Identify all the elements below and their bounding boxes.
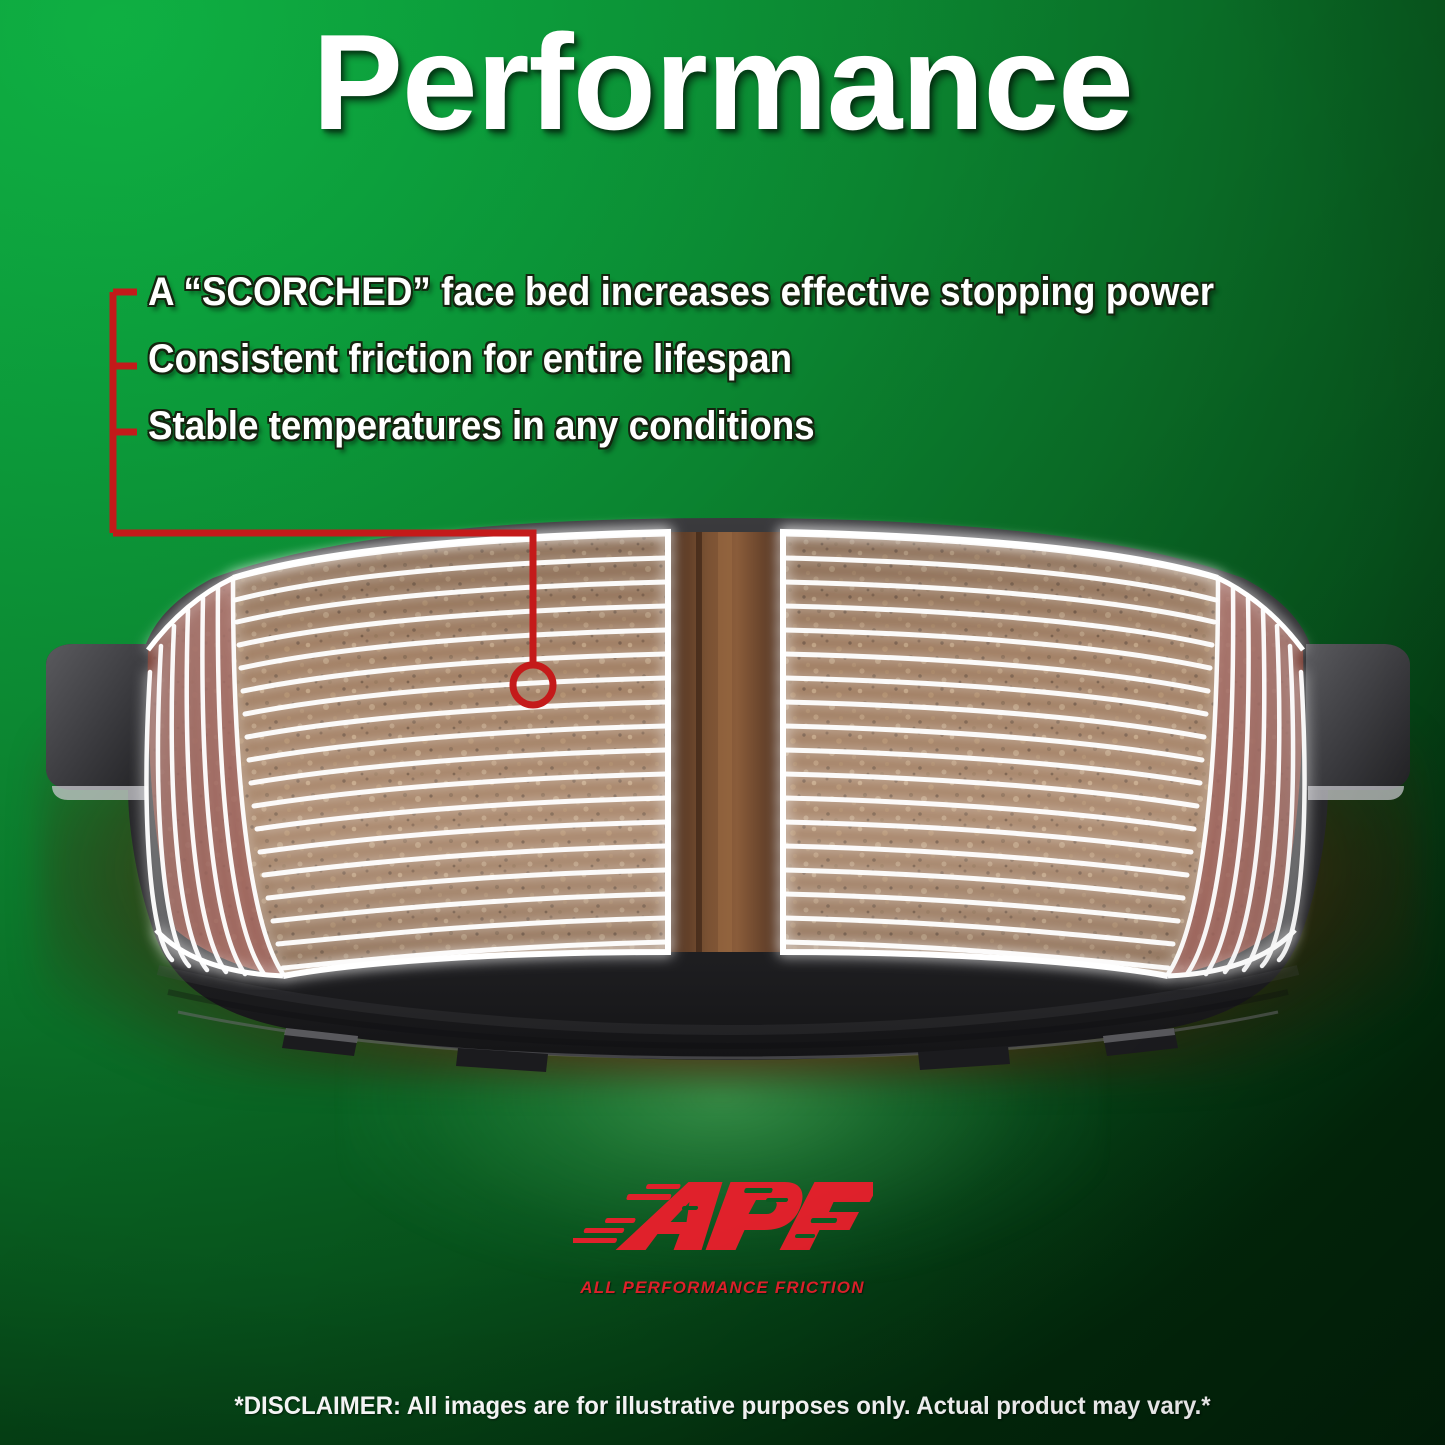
background-vignette [0,0,1445,1445]
product-marketing-banner: Performance A “SCORCHED” face bed increa… [0,0,1445,1445]
